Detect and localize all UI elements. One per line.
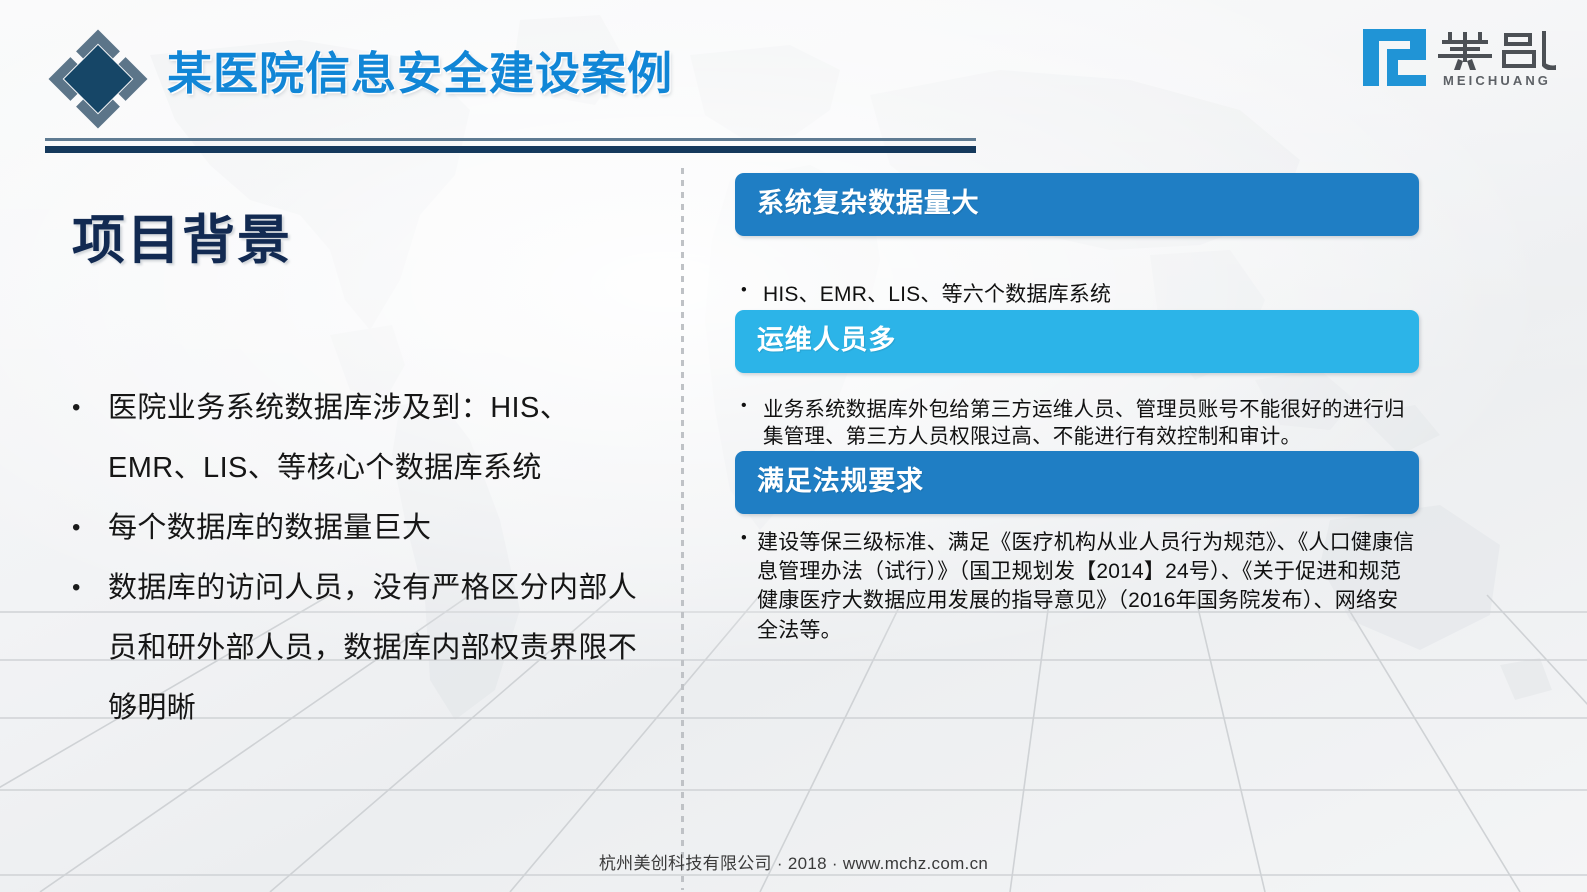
panel-header-bar: 运维人员多 [735, 310, 1419, 373]
challenge-panels: 系统复杂数据量大 HIS、EMR、LIS、等六个数据库系统 运维人员多 业务系统… [735, 173, 1419, 645]
panel-bullet-list: HIS、EMR、LIS、等六个数据库系统 [735, 279, 1419, 311]
footer-credit: 杭州美创科技有限公司 · 2018 · www.mchz.com.cn [0, 849, 1587, 874]
list-item: 业务系统数据库外包给第三方运维人员、管理员账号不能很好的进行归集管理、第三方人员… [735, 396, 1419, 451]
meichuang-monogram-icon [1363, 29, 1426, 86]
list-item: 每个数据库的数据量巨大 [64, 498, 664, 558]
panel-title: 系统复杂数据量大 [757, 187, 1397, 221]
panel-system-complexity: 系统复杂数据量大 HIS、EMR、LIS、等六个数据库系统 [735, 173, 1419, 310]
project-background-list: 医院业务系统数据库涉及到：HIS、EMR、LIS、等核心个数据库系统 每个数据库… [64, 378, 664, 738]
panel-title: 满足法规要求 [757, 465, 1397, 499]
panel-regulatory-compliance: 满足法规要求 建设等保三级标准、满足《医疗机构从业人员行为规范》、《人口健康信息… [735, 451, 1419, 645]
panel-operations-staff: 运维人员多 业务系统数据库外包给第三方运维人员、管理员账号不能很好的进行归集管理… [735, 310, 1419, 451]
column-divider [681, 168, 684, 890]
panel-header-bar: 系统复杂数据量大 [735, 173, 1419, 236]
brand-logo: MEICHUANG [1363, 29, 1560, 88]
brand-name-cn-icon [1434, 29, 1560, 70]
list-item: 医院业务系统数据库涉及到：HIS、EMR、LIS、等核心个数据库系统 [64, 378, 664, 498]
panel-header-bar: 满足法规要求 [735, 451, 1419, 514]
panel-bullet-list: 建设等保三级标准、满足《医疗机构从业人员行为规范》、《人口健康信息管理办法（试行… [735, 528, 1419, 646]
header-rule-thin [45, 138, 976, 141]
page-title: 某医院信息安全建设案例 [167, 37, 673, 102]
list-item: 数据库的访问人员，没有严格区分内部人员和研外部人员，数据库内部权责界限不够明晰 [64, 558, 664, 738]
slide-canvas: 某医院信息安全建设案例 [0, 0, 1587, 892]
section-heading: 项目背景 [72, 198, 292, 274]
panel-title: 运维人员多 [757, 324, 1397, 358]
list-item: 建设等保三级标准、满足《医疗机构从业人员行为规范》、《人口健康信息管理办法（试行… [735, 528, 1419, 646]
brand-name-en: MEICHUANG [1443, 73, 1551, 88]
list-item: HIS、EMR、LIS、等六个数据库系统 [735, 279, 1419, 311]
diamond-emblem-icon [46, 29, 150, 129]
panel-bullet-list: 业务系统数据库外包给第三方运维人员、管理员账号不能很好的进行归集管理、第三方人员… [735, 396, 1419, 451]
brand-wordmark: MEICHUANG [1434, 29, 1560, 88]
header-rule-thick [45, 146, 976, 153]
